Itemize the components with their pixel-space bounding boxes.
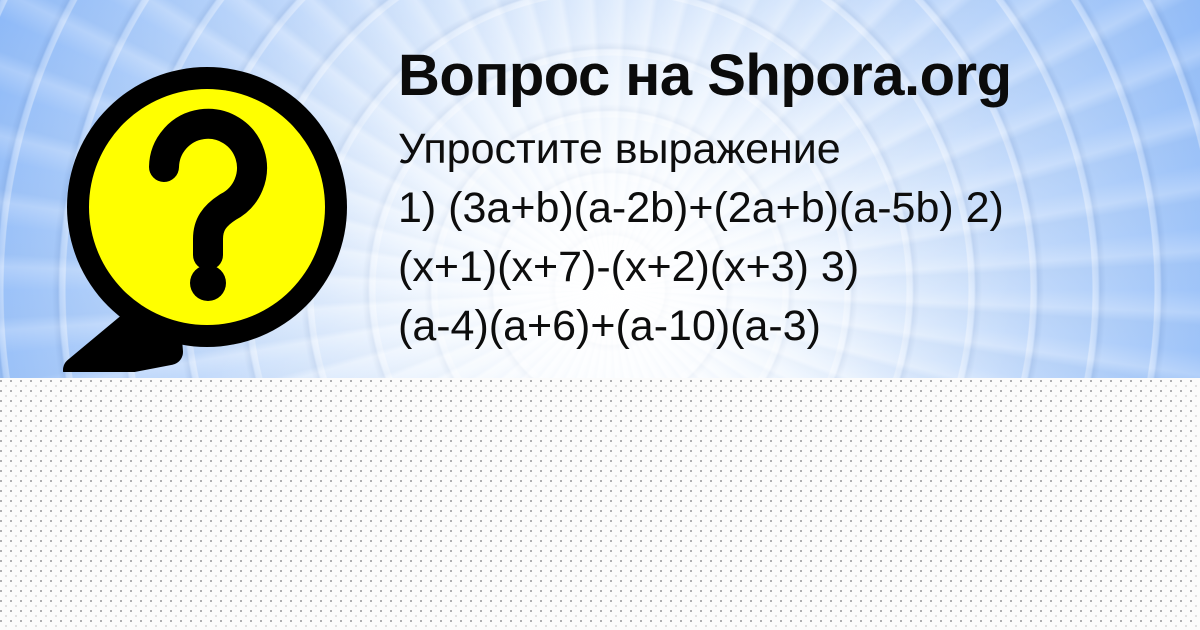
question-banner-image: Вопрос на Shpora.org Упростите выражение… <box>0 0 1200 378</box>
screenshot-canvas: Вопрос на Shpora.org Упростите выражение… <box>0 0 1200 630</box>
question-line-1: Упростите выражение <box>398 120 1198 179</box>
question-speech-bubble-icon <box>52 52 362 372</box>
banner-text-column: Вопрос на Shpora.org Упростите выражение… <box>398 42 1198 356</box>
question-line-4: (a-4)(a+6)+(a-10)(a-3) <box>398 297 1198 356</box>
question-text: Упростите выражение 1) (3a+b)(a-2b)+(2a+… <box>398 120 1198 356</box>
page-title: Вопрос на Shpora.org <box>398 42 1198 110</box>
question-line-3: (x+1)(x+7)-(x+2)(x+3) 3) <box>398 238 1198 297</box>
question-line-2: 1) (3a+b)(a-2b)+(2a+b)(a-5b) 2) <box>398 179 1198 238</box>
